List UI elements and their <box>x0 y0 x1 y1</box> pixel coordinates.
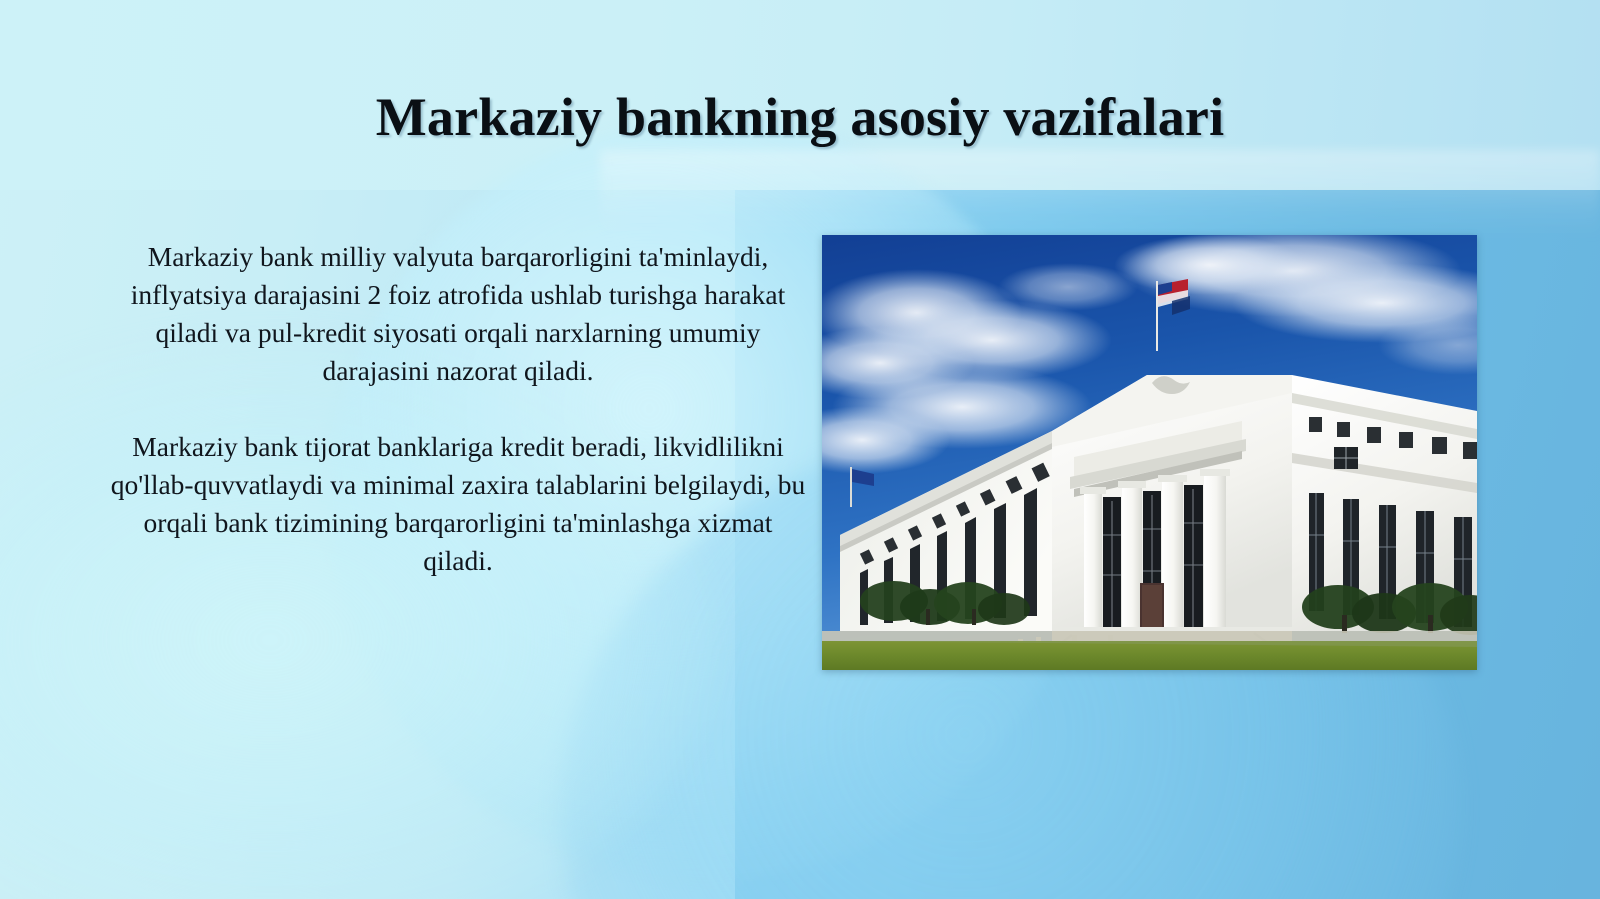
presentation-slide: Markaziy bankning asosiy vazifalari Mark… <box>0 0 1600 899</box>
background-sheen <box>600 150 1600 240</box>
body-paragraph-1: Markaziy bank milliy valyuta barqarorlig… <box>108 238 808 390</box>
slide-body-text: Markaziy bank milliy valyuta barqarorlig… <box>108 238 808 580</box>
central-bank-building-illustration <box>822 235 1477 670</box>
body-paragraph-2: Markaziy bank tijorat banklariga kredit … <box>108 428 808 580</box>
slide-title: Markaziy bankning asosiy vazifalari <box>0 88 1600 147</box>
central-bank-building-photo <box>822 235 1477 670</box>
photo-right-lattice-window <box>1334 447 1358 469</box>
